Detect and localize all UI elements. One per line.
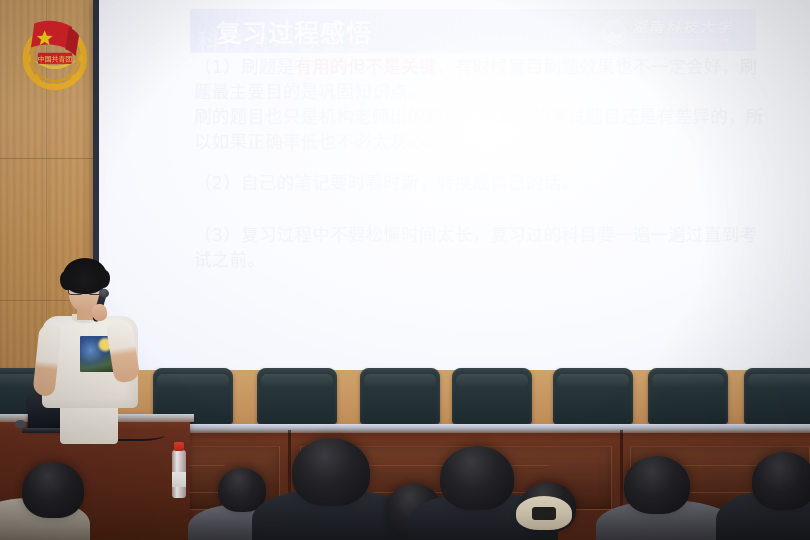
university-name-en: Hunan University of Science and Technolo… bbox=[632, 38, 734, 42]
p1-highlight: 有用的但不是关键 bbox=[294, 58, 436, 78]
audience-row bbox=[0, 440, 810, 540]
computer-mouse bbox=[15, 420, 26, 428]
header-underline bbox=[190, 51, 756, 53]
university-logo: 湖南科技大学 湖南科技大学 Hunan University of Scienc… bbox=[602, 17, 734, 47]
audience-head bbox=[440, 446, 514, 510]
p1-seg-1: （1）刷题是 bbox=[194, 58, 294, 78]
p1-line2: 刷的题目也只是机构老师出的题目，和最后的考试题目还是有差异的，所以如果正确率低也… bbox=[194, 108, 764, 153]
audience-head bbox=[22, 462, 84, 518]
chair bbox=[553, 368, 633, 424]
bottle-cap bbox=[174, 442, 184, 451]
slide-title: 复习过程感悟 bbox=[216, 14, 372, 50]
bottle-label bbox=[172, 472, 186, 487]
communist-youth-league-emblem-icon: 中国共青团 bbox=[12, 8, 98, 94]
slide-header-bar: 科技大学委员会 复习过程感悟 湖南科技大学 湖南科技大学 Hunan Unive… bbox=[190, 9, 756, 51]
audience-head bbox=[752, 452, 810, 510]
chair bbox=[648, 368, 728, 424]
slide-paragraph-2: （2）自己的笔记要时看时新，转换成自己的话。 bbox=[194, 172, 774, 197]
projection-screen: 科技大学委员会 复习过程感悟 湖南科技大学 湖南科技大学 Hunan Unive… bbox=[99, 0, 810, 374]
speaker-figure bbox=[36, 258, 146, 438]
chair bbox=[744, 368, 810, 424]
presentation-slide: 科技大学委员会 复习过程感悟 湖南科技大学 湖南科技大学 Hunan Unive… bbox=[99, 0, 810, 374]
chair bbox=[257, 368, 337, 424]
water-bottle bbox=[172, 450, 186, 498]
slide-paragraph-1: （1）刷题是有用的但不是关键，有时候盲目刷题效果也不一定会好，刷题最主要目的是巩… bbox=[194, 56, 774, 156]
baseball-cap bbox=[516, 496, 572, 530]
slide-paragraph-3: （3）复习过程中不要松懈时间太长，复习过的科目要一遍一遍过直到考试之前。 bbox=[194, 224, 774, 274]
audience-head bbox=[292, 438, 370, 506]
chair bbox=[452, 368, 532, 424]
speaker-lower-body bbox=[60, 404, 118, 444]
chair bbox=[360, 368, 440, 424]
lecture-hall-scene: 中国共青团 科技大学委员会 复习过程感悟 湖南科技大学 bbox=[0, 0, 810, 540]
audience-head bbox=[624, 456, 690, 514]
svg-text:中国共青团: 中国共青团 bbox=[38, 54, 73, 63]
university-name-cn: 湖南科技大学 bbox=[632, 21, 734, 35]
cap-strap bbox=[532, 507, 556, 520]
university-seal-icon: 湖南科技大学 bbox=[602, 20, 627, 45]
